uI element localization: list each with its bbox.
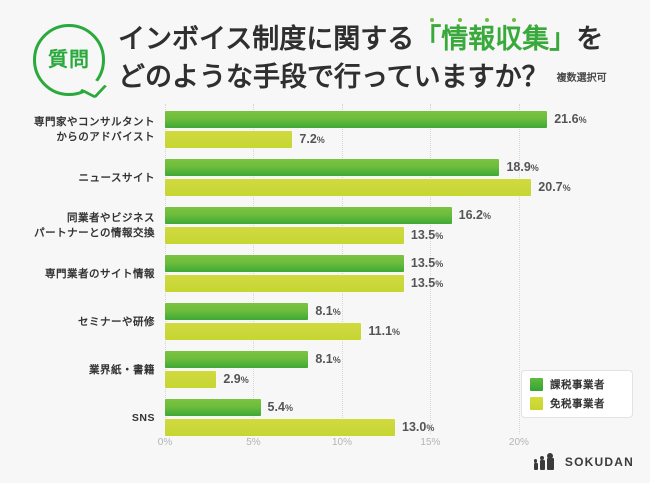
brand-logo: SOKUDAN [534,454,634,470]
bar-exempt[interactable] [165,227,404,244]
bar-track: 21.6% [165,111,650,128]
bar-value-label: 8.1% [315,302,340,322]
category-label: 専門家やコンサルタントからのアドバイスト [0,106,155,154]
bar-value-label: 13.5% [411,254,443,274]
bar-exempt[interactable] [165,131,292,148]
question-badge-tail-mask [78,74,94,90]
bar-value-label: 7.2% [299,130,324,150]
category-label-line: セミナーや研修 [78,315,155,330]
chart-row: ニュースサイト18.9%20.7% [0,154,650,202]
bar-value-label: 5.4% [268,398,293,418]
legend-swatch-taxable-icon [530,378,543,391]
bar-track: 18.9% [165,159,650,176]
question-badge-label: 質問 [48,50,90,70]
title-line-1: インボイス制度に関する「情報収集」を [118,20,638,58]
bar-track: 13.5% [165,275,650,292]
sokudan-people-icon [534,454,558,470]
bar-track: 20.7% [165,179,650,196]
chart-row: 専門業者のサイト情報13.5%13.5% [0,250,650,298]
bar-pair: 16.2%13.5% [165,202,650,250]
bar-pair: 18.9%20.7% [165,154,650,202]
category-label: SNS [0,394,155,442]
title-line-2: どのような手段で行っていますか？複数選択可 [118,58,638,98]
title-highlight-text: 「情報収集」 [414,24,576,54]
category-label: 同業者やビジネスパートナーとの情報交換 [0,202,155,250]
brand-name: SOKUDAN [565,455,634,469]
bar-track: 8.1% [165,351,650,368]
bar-track: 13.5% [165,227,650,244]
bar-track: 7.2% [165,131,650,148]
page-title: インボイス制度に関する「情報収集」を どのような手段で行っていますか？複数選択可 [118,20,638,98]
category-label: ニュースサイト [0,154,155,202]
bar-taxable[interactable] [165,303,308,320]
category-label-line: 専門業者のサイト情報 [45,267,155,282]
category-label-line: 業界紙・書籍 [89,363,155,378]
bar-exempt[interactable] [165,275,404,292]
bar-value-label: 13.0% [402,418,434,438]
bar-value-label: 8.1% [315,350,340,370]
bar-track: 11.1% [165,323,650,340]
chart-row: 専門家やコンサルタントからのアドバイスト21.6%7.2% [0,106,650,154]
category-label-line: パートナーとの情報交換 [34,226,155,241]
bar-track: 13.0% [165,419,650,436]
emphasis-dots-icon [430,18,516,24]
bar-value-label: 18.9% [506,158,538,178]
bar-track: 16.2% [165,207,650,224]
bar-taxable[interactable] [165,159,499,176]
category-label-line: からのアドバイスト [56,130,155,145]
title-line-2-text: どのような手段で行っていますか？ [118,62,549,92]
bar-track: 13.5% [165,255,650,272]
category-label-line: 同業者やビジネス [67,211,155,226]
bar-taxable[interactable] [165,399,261,416]
bar-pair: 21.6%7.2% [165,106,650,154]
bar-exempt[interactable] [165,371,216,388]
category-label: 専門業者のサイト情報 [0,250,155,298]
category-label-line: SNS [132,411,155,426]
bar-taxable[interactable] [165,351,308,368]
bar-value-label: 20.7% [538,178,570,198]
bar-value-label: 13.5% [411,226,443,246]
bar-value-label: 11.1% [368,322,400,342]
category-label-line: 専門家やコンサルタント [34,115,155,130]
legend-label-exempt: 免税事業者 [550,396,605,411]
category-label: 業界紙・書籍 [0,346,155,394]
bar-value-label: 13.5% [411,274,443,294]
bar-pair: 8.1%11.1% [165,298,650,346]
legend-item-taxable: 課税事業者 [530,377,624,392]
chart-row: セミナーや研修8.1%11.1% [0,298,650,346]
bar-exempt[interactable] [165,419,395,436]
legend-item-exempt: 免税事業者 [530,396,624,411]
multi-select-note: 複数選択可 [557,73,607,84]
bar-exempt[interactable] [165,179,531,196]
legend-label-taxable: 課税事業者 [550,377,605,392]
category-label: セミナーや研修 [0,298,155,346]
bar-value-label: 21.6% [554,110,586,130]
bar-pair: 13.5%13.5% [165,250,650,298]
bar-taxable[interactable] [165,207,452,224]
title-text-before: インボイス制度に関する [118,24,414,54]
chart-legend: 課税事業者 免税事業者 [521,370,633,418]
chart-row: 同業者やビジネスパートナーとの情報交換16.2%13.5% [0,202,650,250]
bar-value-label: 2.9% [223,370,248,390]
bar-taxable[interactable] [165,255,404,272]
bar-track: 8.1% [165,303,650,320]
title-text-after: を [576,24,603,54]
bar-value-label: 16.2% [459,206,491,226]
legend-swatch-exempt-icon [530,397,543,410]
title-highlight: 「情報収集」 [414,24,576,54]
chart-page: 質問 インボイス制度に関する「情報収集」を どのような手段で行っていますか？複数… [0,0,650,483]
bar-taxable[interactable] [165,111,547,128]
bar-exempt[interactable] [165,323,361,340]
category-label-line: ニュースサイト [79,171,155,186]
chart-header: 質問 インボイス制度に関する「情報収集」を どのような手段で行っていますか？複数… [0,0,650,104]
